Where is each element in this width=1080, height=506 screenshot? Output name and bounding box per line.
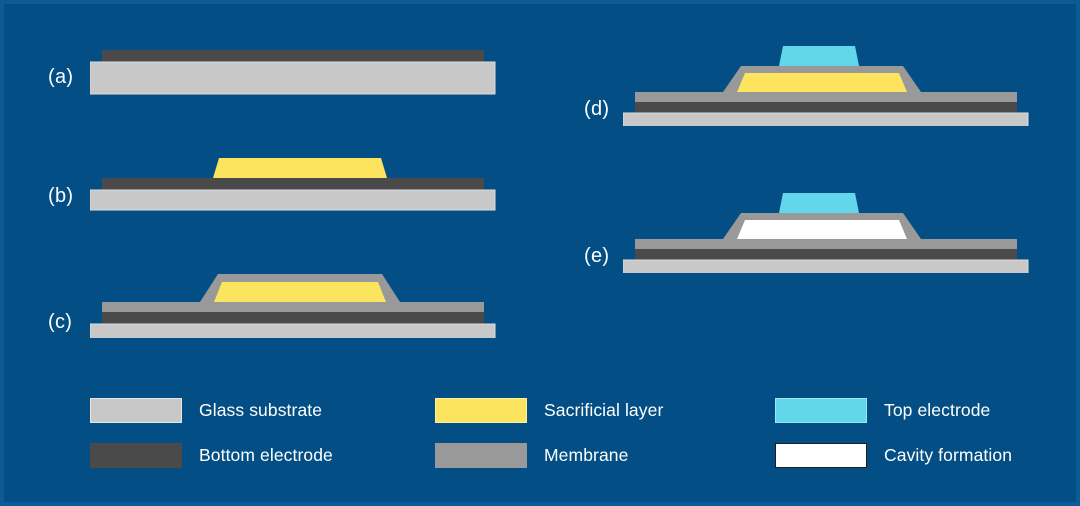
- legend: Glass substrate Sacrificial layer Top el…: [90, 392, 1030, 482]
- legend-swatch-membrane: [435, 443, 527, 468]
- legend-label-glass-substrate: Glass substrate: [199, 400, 322, 421]
- glass-substrate-layer: [90, 190, 495, 210]
- panel-label-d: (d): [584, 98, 609, 121]
- bottom-electrode-layer: [102, 50, 484, 62]
- legend-item-membrane: Membrane: [435, 437, 775, 473]
- sacrificial-layer-shape: [213, 158, 387, 178]
- top-electrode-layer: [779, 46, 859, 66]
- panel-label-c: (c): [48, 311, 72, 334]
- panel-label-a: (a): [48, 66, 73, 89]
- glass-substrate-layer: [90, 62, 495, 94]
- process-flow-figure: (a) (b) (c) (d): [0, 0, 1080, 506]
- panel-label-e: (e): [584, 245, 609, 268]
- legend-label-sacrificial-layer: Sacrificial layer: [544, 400, 663, 421]
- bottom-electrode-layer: [635, 102, 1017, 113]
- sacrificial-layer-shape: [214, 282, 386, 302]
- legend-swatch-sacrificial-layer: [435, 398, 527, 423]
- legend-item-cavity-formation: Cavity formation: [775, 437, 1030, 473]
- legend-swatch-top-electrode: [775, 398, 867, 423]
- legend-label-membrane: Membrane: [544, 445, 628, 466]
- bottom-electrode-layer: [102, 312, 484, 324]
- legend-item-glass-substrate: Glass substrate: [90, 392, 435, 428]
- legend-label-cavity-formation: Cavity formation: [884, 445, 1012, 466]
- legend-label-bottom-electrode: Bottom electrode: [199, 445, 333, 466]
- legend-swatch-bottom-electrode: [90, 443, 182, 468]
- top-electrode-layer: [779, 193, 859, 213]
- legend-item-bottom-electrode: Bottom electrode: [90, 437, 435, 473]
- panel-d-diagram: [623, 42, 1035, 126]
- panel-e-diagram: [623, 189, 1035, 273]
- legend-swatch-glass-substrate: [90, 398, 182, 423]
- legend-swatch-cavity-formation: [775, 443, 867, 468]
- panel-label-b: (b): [48, 185, 73, 208]
- bottom-electrode-layer: [102, 178, 484, 190]
- cavity-formation-region: [737, 220, 907, 239]
- glass-substrate-layer: [90, 324, 495, 338]
- legend-item-top-electrode: Top electrode: [775, 392, 1030, 428]
- glass-substrate-layer: [623, 113, 1028, 126]
- legend-item-sacrificial-layer: Sacrificial layer: [435, 392, 775, 428]
- bottom-electrode-layer: [635, 249, 1017, 260]
- panel-a-diagram: [90, 50, 500, 96]
- panel-b-diagram: [90, 150, 500, 212]
- sacrificial-layer-shape: [737, 73, 907, 92]
- panel-c-diagram: [90, 270, 500, 338]
- legend-label-top-electrode: Top electrode: [884, 400, 990, 421]
- glass-substrate-layer: [623, 260, 1028, 273]
